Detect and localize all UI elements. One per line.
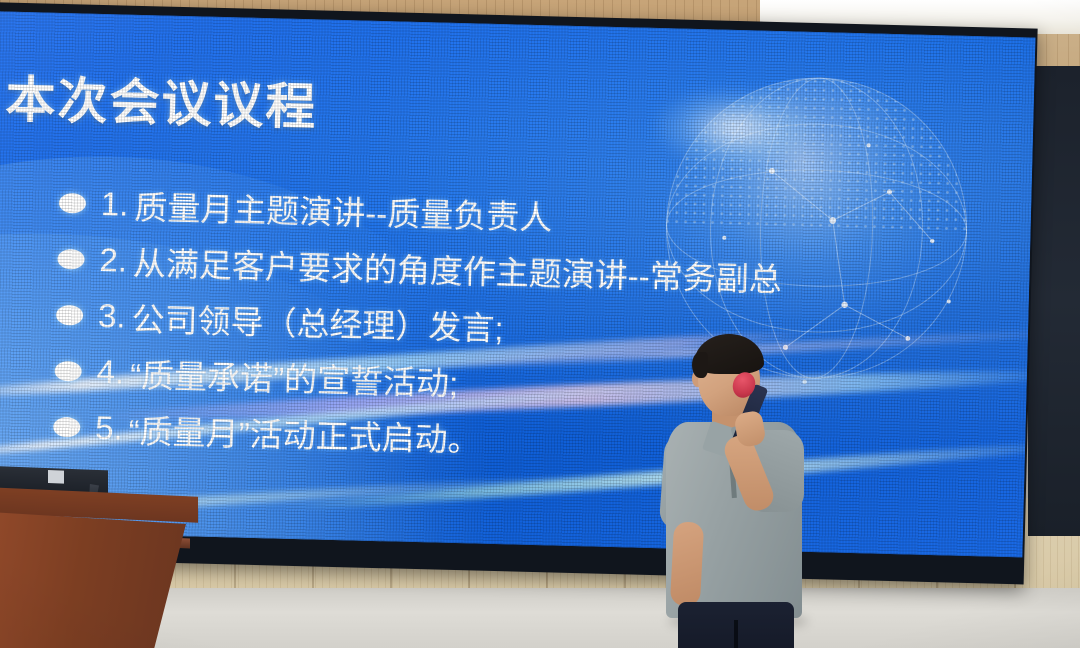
agenda-item-text: 公司领导（总经理）发言; <box>131 293 504 350</box>
speaker-left-arm <box>670 521 704 606</box>
screenshot-scene: 本次会议议程 1. 质量月主题演讲--质量负责人 2. 从满足客户要求的角度作主… <box>0 0 1080 648</box>
standing-speaker <box>638 326 868 648</box>
slide-title: 本次会议议程 <box>5 60 319 140</box>
bullet-icon <box>53 417 80 438</box>
speaker-sideburn <box>692 352 708 378</box>
agenda-item-text: “质量月”活动正式启动。 <box>128 405 481 462</box>
podium-body <box>0 512 186 648</box>
trouser-leg-seam <box>734 620 738 648</box>
bullet-icon <box>59 193 86 214</box>
bullet-icon <box>54 361 81 382</box>
agenda-item-text: “质量承诺”的宣誓活动; <box>130 349 459 405</box>
bullet-icon <box>56 305 83 326</box>
podium <box>0 468 250 648</box>
agenda-item-text: 质量月主题演讲--质量负责人 <box>134 181 553 240</box>
agenda-item-number: 1. <box>100 185 128 224</box>
agenda-item-number: 2. <box>99 241 127 280</box>
agenda-item-number: 5. <box>95 409 123 448</box>
agenda-item-number: 3. <box>98 297 126 336</box>
bullet-icon <box>57 249 84 270</box>
agenda-item-number: 4. <box>96 353 124 392</box>
screen-side-dark-panel <box>1028 66 1080 536</box>
monitor-badge <box>48 470 64 484</box>
